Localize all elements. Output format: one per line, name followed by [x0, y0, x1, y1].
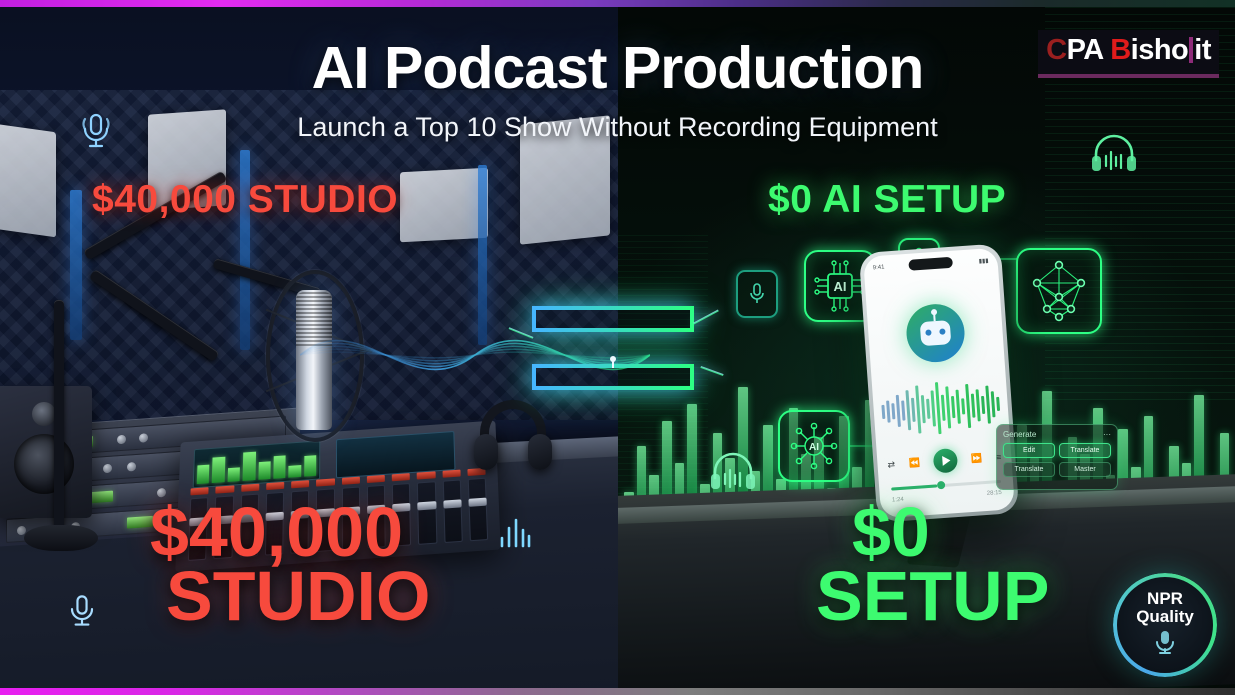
- logo-part-c: C: [1046, 34, 1066, 66]
- generate-button-translate[interactable]: Translate: [1059, 443, 1111, 458]
- right-headline-line2: SETUP: [816, 564, 1049, 628]
- neural-network-node: [1016, 248, 1102, 334]
- mic-node-icon: [736, 270, 778, 318]
- mic-stand-base: [24, 525, 98, 551]
- mic-stand: [54, 300, 64, 530]
- robot-face-icon: [920, 320, 952, 346]
- microphone-icon: [1154, 629, 1176, 660]
- play-button[interactable]: [933, 448, 959, 474]
- wall-panel: [400, 168, 488, 243]
- left-headline-line2: STUDIO: [150, 564, 430, 628]
- time-total: 28:15: [987, 490, 1002, 497]
- audio-waveform: [880, 376, 1002, 440]
- equals-symbol: [532, 306, 694, 394]
- phone-status-time: 9:41: [873, 265, 885, 272]
- logo-part-it: it: [1194, 34, 1211, 66]
- generate-button-master[interactable]: Master: [1059, 462, 1111, 477]
- phone-seek-bar[interactable]: [891, 480, 1001, 491]
- studio-monitor-speaker: [0, 386, 92, 518]
- npr-badge-line2: Quality: [1136, 608, 1194, 626]
- bottom-accent-bar: [0, 688, 1235, 695]
- generate-panel-title: Generate: [1003, 430, 1036, 439]
- ai-robot-avatar: [905, 302, 967, 364]
- left-tag-label: $40,000 STUDIO: [92, 178, 398, 222]
- generate-button-grid: Edit Translate Translate Master: [1003, 443, 1111, 477]
- npr-badge-line1: NPR: [1147, 590, 1183, 608]
- generate-button-edit[interactable]: Edit: [1003, 443, 1055, 458]
- logo-part-b: B: [1110, 34, 1130, 66]
- microphone-icon: [62, 590, 102, 635]
- ai-chip-label: AI: [834, 279, 847, 294]
- shuffle-icon[interactable]: ⇄: [887, 459, 895, 470]
- previous-icon[interactable]: ⏪: [908, 457, 920, 469]
- led-strip: [70, 190, 82, 340]
- overflow-menu-icon[interactable]: ···: [1103, 430, 1111, 439]
- right-headline: $0 SETUP: [852, 500, 1049, 629]
- equalizer-icon: [498, 512, 532, 557]
- studio-headphones: [474, 400, 552, 470]
- phone-screen: 9:41 ▮▮▮: [863, 248, 1015, 519]
- brand-logo[interactable]: CPA Bishoit: [1038, 30, 1219, 78]
- logo-part-isho: isho: [1131, 34, 1189, 66]
- phone-playback-controls[interactable]: ⇄ ⏪ ⏩ ≡: [887, 444, 1003, 478]
- ai-network-node: AI: [778, 410, 850, 482]
- right-tag-label: $0 AI SETUP: [768, 178, 1006, 222]
- equals-bar-bottom: [532, 364, 694, 390]
- next-icon[interactable]: ⏩: [971, 453, 983, 465]
- generate-panel-header: Generate ···: [1003, 430, 1111, 439]
- thumbnail-canvas: AI AI: [0, 0, 1235, 695]
- npr-quality-badge: NPR Quality: [1113, 573, 1217, 677]
- generate-button-translate-2[interactable]: Translate: [1003, 462, 1055, 477]
- generate-panel[interactable]: Generate ··· Edit Translate Translate Ma…: [996, 424, 1118, 490]
- left-headline: $40,000 STUDIO: [150, 500, 430, 629]
- equals-bar-top: [532, 306, 694, 332]
- page-subtitle: Launch a Top 10 Show Without Recording E…: [0, 112, 1235, 143]
- phone-status-indicators: ▮▮▮: [978, 257, 988, 265]
- ai-network-label: AI: [809, 442, 819, 453]
- logo-part-pa: PA: [1067, 34, 1111, 66]
- headphones-icon: [706, 446, 760, 501]
- top-accent-bar: [0, 0, 1235, 7]
- logo-j-bar: [1189, 37, 1193, 63]
